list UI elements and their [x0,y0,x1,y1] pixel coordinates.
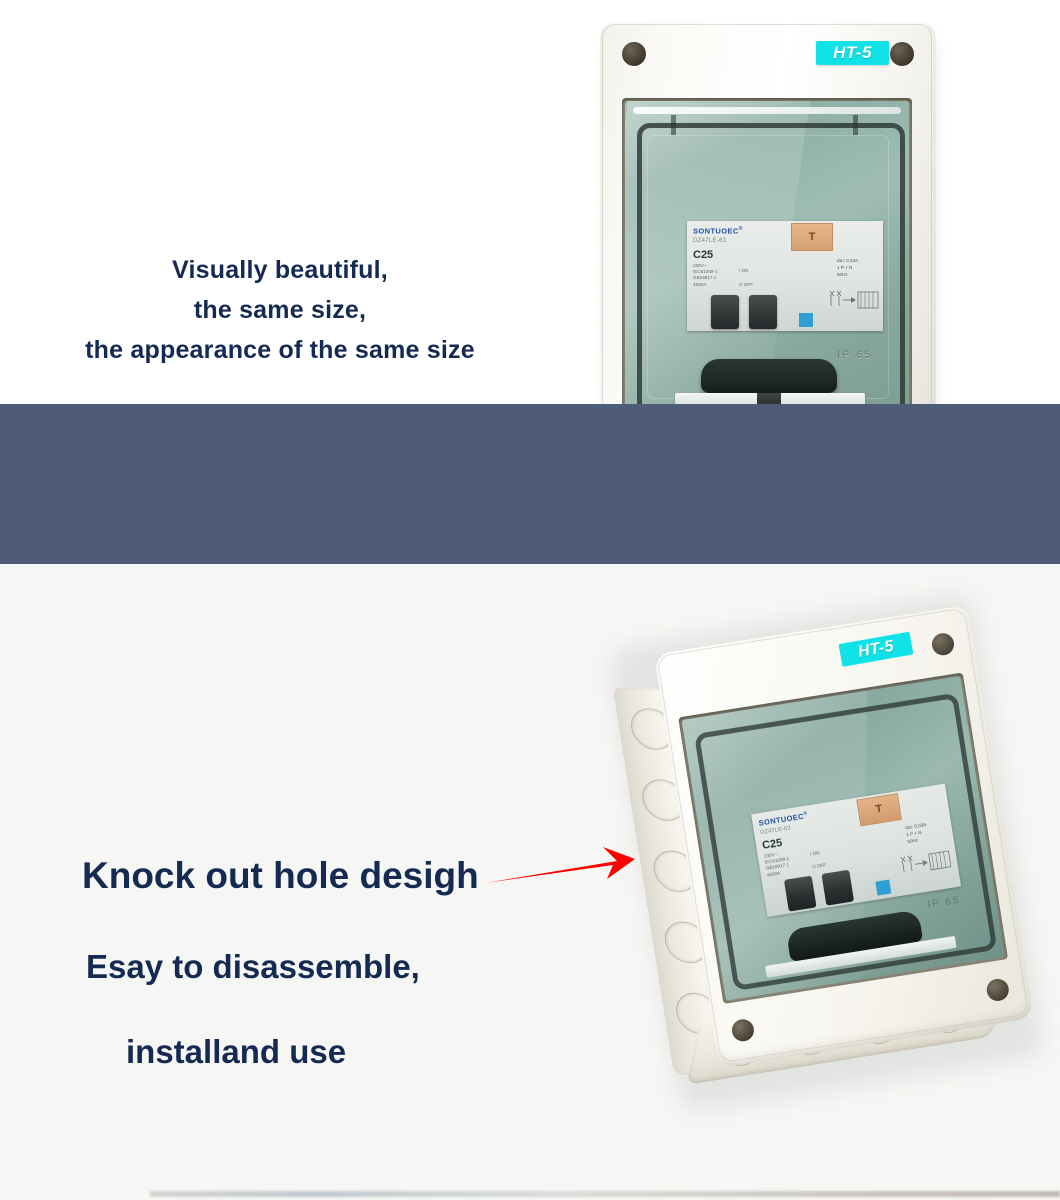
test-button-label: T [857,794,900,825]
bottom-caption-line-2: Esay to disassemble, [86,948,420,986]
breaker-off-label: O OFF [811,858,827,873]
breaker-off-label: O OFF [739,278,753,292]
top-caption-line-3: the appearance of the same size [0,330,560,370]
product-marketing-image: HT-5 SONTUOEC® DZ47LE-63 C25 230V~ IEC61… [0,0,1060,1200]
breaker-residual-specs: I∆n: 0.03A 1 P + N 50Hz [837,257,858,278]
breaker-model: DZ47LE-63 [693,238,726,244]
breaker-brand: SONTUOEC® [758,811,809,828]
breaker-on-off-legend: I ON O OFF [809,845,827,873]
residual-current: I∆n: 0.03A [837,257,858,264]
transparent-cover: SONTUOEC® DZ47LE-63 C25 230V~ IEC61009-1… [682,676,1005,1001]
breaker-poles: 1 P + N [837,264,858,271]
top-caption: Visually beautiful, the same size, the a… [0,250,560,370]
test-button[interactable]: T [791,223,833,251]
annotation-arrow-icon [485,835,650,895]
product-photo-angled-view: HT-5 SONTUOEC® DZ47LE-63 C25 230V~ IEC61… [612,578,1042,1138]
breaker-indicator-blue [799,313,813,327]
breaker-residual-specs: I∆n: 0.03A 1 P + N 50Hz [905,821,929,845]
window-frame: SONTUOEC® DZ47LE-63 C25 230V~ IEC61009-1… [622,98,912,428]
cover-top-highlight [633,107,901,114]
model-label-text: HT-5 [833,43,872,63]
wiring-diagram-icon [897,844,955,882]
enclosure-front-face: HT-5 SONTUOEC® DZ47LE-63 C25 230V~ IEC61… [654,605,1033,1068]
top-caption-line-2: the same size, [0,290,560,330]
breaker-rating: C25 [693,249,713,261]
breaker-specs: 230V~ IEC61009-1 GB16917.1 4500A [693,263,718,288]
breaker-toggle-left[interactable] [784,876,817,912]
breaker-standard-2: GB16917.1 [693,275,718,281]
breaker-indicator-blue [875,880,891,896]
next-section-edge [150,1191,1060,1197]
breaker-toggle-right[interactable] [749,295,777,329]
breaker-frequency: 50Hz [837,271,858,278]
window-frame: SONTUOEC® DZ47LE-63 C25 230V~ IEC61009-1… [678,672,1008,1003]
screw-hole-top-left [622,42,646,66]
bottom-caption-line-3: installand use [126,1033,346,1071]
breaker-specs: 230V~ IEC61009-1 GB16917.1 4500A [764,850,792,878]
breaker-brand: SONTUOEC® [693,226,743,236]
breaker-breaking-capacity: 4500A [693,282,718,288]
breaker-on-off-legend: I ON O OFF [739,264,753,292]
wiring-diagram-icon [827,285,881,315]
ip-rating-text: IP 65 [837,349,873,361]
breaker-rating: C25 [761,837,783,852]
test-button[interactable]: T [856,793,902,826]
bottom-caption-line-1: Knock out hole desigh [82,855,479,897]
breaker-model: DZ47LE-63 [760,825,791,836]
breaker-toggle-right[interactable] [821,870,854,906]
top-caption-line-1: Visually beautiful, [0,250,560,290]
screw-hole-top-right [890,42,914,66]
circuit-breaker-module: SONTUOEC® DZ47LE-63 C25 230V~ IEC61009-1… [687,221,883,331]
test-button-label: T [792,224,832,250]
transparent-cover: SONTUOEC® DZ47LE-63 C25 230V~ IEC61009-1… [625,101,909,425]
model-label-sticker: HT-5 [816,41,889,65]
breaker-toggle-left[interactable] [711,295,739,329]
breaker-on-label: I ON [739,264,753,278]
model-label-text: HT-5 [857,637,896,661]
divider-band [0,404,1060,564]
cover-latch-handle[interactable] [701,359,837,393]
